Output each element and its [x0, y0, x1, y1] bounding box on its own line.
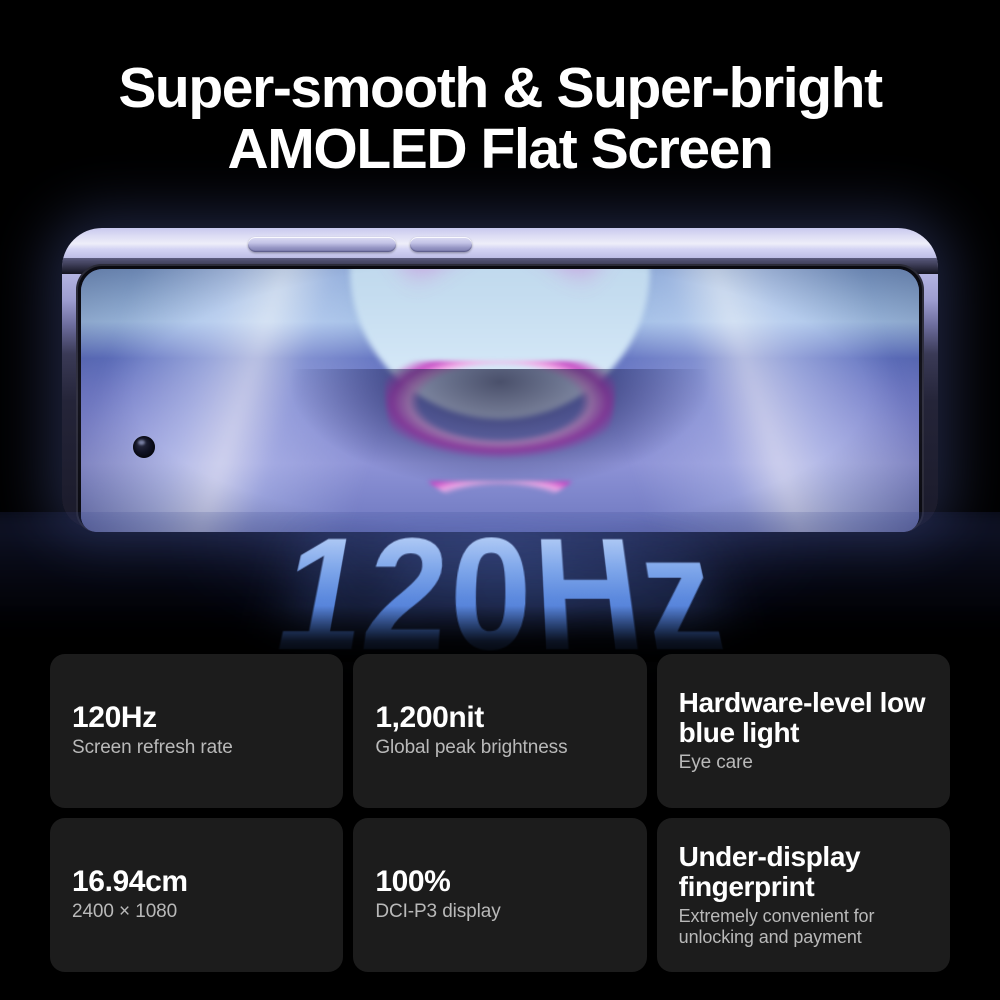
spec-subtitle: Extremely convenient for unlocking and p…: [679, 906, 928, 948]
spec-title: Under-display fingerprint: [679, 842, 928, 902]
spec-card-low-blue-light[interactable]: Hardware-level low blue light Eye care: [657, 654, 950, 808]
promo-page: Super-smooth & Super-bright AMOLED Flat …: [0, 0, 1000, 1000]
spec-card-peak-brightness[interactable]: 1,200nit Global peak brightness: [353, 654, 646, 808]
camera-glint: [138, 440, 145, 445]
spec-title: 120Hz: [72, 702, 321, 734]
spec-card-refresh-rate[interactable]: 120Hz Screen refresh rate: [50, 654, 343, 808]
spec-card-color-gamut[interactable]: 100% DCI-P3 display: [353, 818, 646, 972]
spec-card-screen-size[interactable]: 16.94cm 2400 × 1080: [50, 818, 343, 972]
spec-subtitle: DCI-P3 display: [375, 901, 624, 923]
spec-card-fingerprint[interactable]: Under-display fingerprint Extremely conv…: [657, 818, 950, 972]
spec-subtitle: Eye care: [679, 752, 928, 774]
refresh-rate-wordmark: 120Hz: [0, 512, 1000, 662]
phone-device: [62, 228, 938, 528]
spec-title: 1,200nit: [375, 702, 624, 734]
wallpaper-vignette: [81, 269, 919, 532]
power-button: [410, 237, 472, 252]
frame-top-rail: [62, 228, 938, 262]
spec-title: Hardware-level low blue light: [679, 688, 928, 748]
spec-card-grid: 120Hz Screen refresh rate 1,200nit Globa…: [50, 654, 950, 972]
headline-line-1: Super-smooth & Super-bright: [118, 56, 881, 120]
spec-subtitle: 2400 × 1080: [72, 901, 321, 923]
phone-screen: [81, 269, 919, 532]
spec-title: 100%: [375, 866, 624, 898]
headline-line-2: AMOLED Flat Screen: [0, 119, 1000, 180]
spec-subtitle: Screen refresh rate: [72, 737, 321, 759]
volume-rocker-button: [248, 237, 396, 252]
page-title: Super-smooth & Super-bright AMOLED Flat …: [0, 58, 1000, 180]
phone-bezel: [76, 264, 924, 532]
spec-title: 16.94cm: [72, 866, 321, 898]
front-camera-icon: [133, 436, 155, 458]
spec-subtitle: Global peak brightness: [375, 737, 624, 759]
